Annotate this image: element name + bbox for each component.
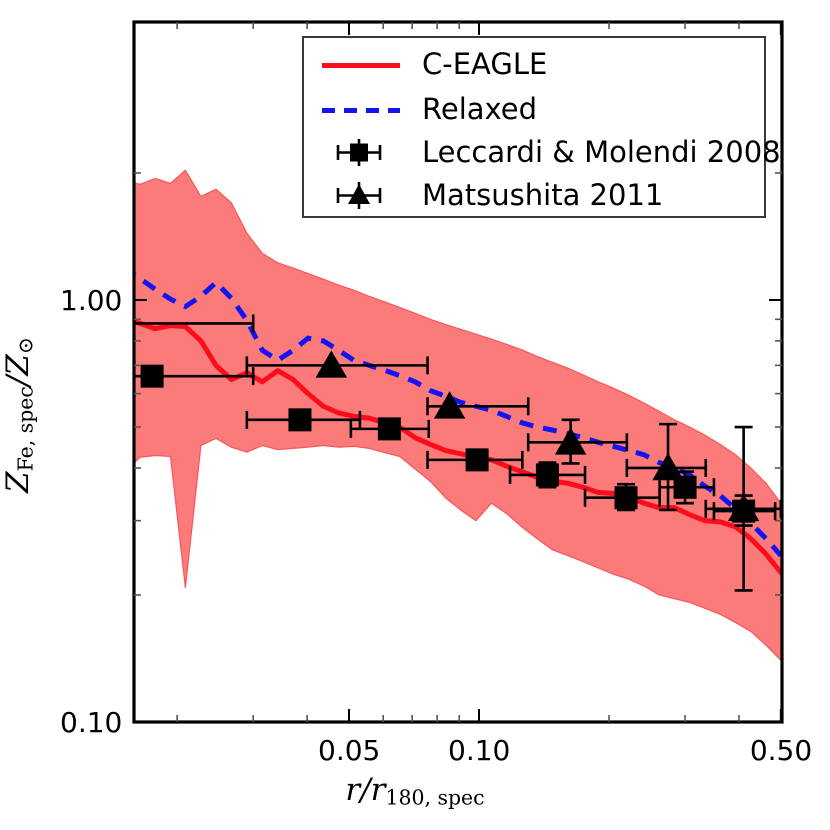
legend-key-solid-line [304, 42, 422, 87]
data-marker-square [536, 463, 559, 486]
x-tick-label-0.50: 0.50 [750, 734, 812, 767]
square-marker-icon [304, 130, 422, 175]
data-marker-square [288, 408, 311, 431]
legend-entry-c-eagle: C-EAGLE [304, 42, 764, 87]
triangle-marker-icon [304, 173, 422, 218]
legend-label-matsushita: Matsushita 2011 [422, 181, 663, 210]
legend-entry-matsushita: Matsushita 2011 [304, 173, 764, 218]
x-axis-title-subscript: 180, spec [385, 786, 484, 810]
y-axis-title-denominator: /Z [0, 354, 36, 386]
dashed-line-icon [322, 108, 400, 113]
legend-key-square-marker [304, 130, 422, 175]
data-marker-square [378, 417, 401, 440]
x-axis-title-main: r/r [345, 772, 385, 808]
y-axis-title-denominator-subscript: ⊙ [14, 337, 38, 354]
y-axis-title-subscript: Fe, spec [14, 386, 38, 471]
y-axis-title-main: Z [0, 471, 36, 493]
x-axis-title: r/r180, spec [0, 772, 830, 810]
data-marker-square [141, 365, 164, 388]
legend-key-dashed-line [304, 87, 422, 132]
solid-line-icon [322, 63, 400, 68]
legend-label-c-eagle: C-EAGLE [422, 50, 547, 79]
figure-canvas: 0.05 0.10 0.50 1.00 0.10 r/r180, spec ZF… [0, 0, 830, 830]
legend-entry-leccardi-molendi: Leccardi & Molendi 2008 [304, 130, 764, 175]
legend: C-EAGLE Relaxed Leccardi & Molendi 2008 [302, 36, 766, 218]
data-marker-square [466, 448, 489, 471]
y-tick-label-1.00: 1.00 [60, 284, 122, 317]
data-marker-square [615, 486, 638, 509]
y-tick-label-0.10: 0.10 [60, 706, 122, 739]
x-tick-label-0.05: 0.05 [318, 734, 380, 767]
legend-label-relaxed: Relaxed [422, 95, 537, 124]
scatter-band [63, 164, 781, 660]
x-tick-label-0.10: 0.10 [448, 734, 510, 767]
y-axis-title: ZFe, spec/Z⊙ [0, 0, 38, 830]
legend-label-leccardi-molendi: Leccardi & Molendi 2008 [422, 138, 781, 167]
legend-entry-relaxed: Relaxed [304, 87, 764, 132]
legend-key-triangle-marker [304, 173, 422, 218]
